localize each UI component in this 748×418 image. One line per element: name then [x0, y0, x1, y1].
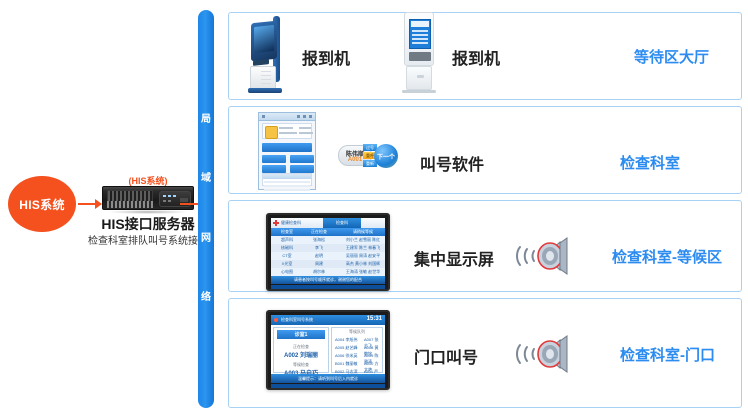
board4-current-value: A002 刘瑞丽 [274, 350, 328, 359]
central-display-screen-icon: 健康检查科 检查科 检查室 正在检查 请稍候等候 超声科 张海松 刘小兰 赵雪丽… [266, 213, 390, 291]
diagram-canvas: HIS系统 (HIS系统) HIS接口服务器 检查科室排队叫号系统接口 局 域 [0, 0, 748, 418]
row2-zone-label: 检查科室 [620, 152, 680, 173]
board4-queue-title: 等候队列 [332, 329, 382, 335]
next-patient-label: 下一个 [377, 152, 395, 161]
board3-footer: 请患者按叫号顺序就诊，谢谢您的配合 [271, 277, 385, 283]
his-system-label: HIS系统 [19, 196, 65, 213]
board3-tab: 检查科 [323, 220, 361, 226]
board3-title: 健康检查科 [281, 220, 301, 226]
server-title: HIS接口服务器 [78, 214, 218, 234]
queue-item: A005 赵艺峰 [335, 345, 357, 351]
checkin-kiosk-white-icon [400, 12, 438, 94]
table-row: 心电图 胡尔林 王海涛 张敏 赵世华 [271, 268, 385, 276]
row3-zone-label: 检查科室-等候区 [612, 246, 722, 267]
table-row: 核磁科 李飞 王建军 陈兰 林春飞 [271, 244, 385, 252]
table-row: 超声科 张海松 刘小兰 赵雪丽 陈红 [271, 236, 385, 244]
lan-char-1: 局 [201, 115, 211, 125]
medical-cross-icon [273, 220, 279, 226]
speaker-icon [512, 332, 576, 376]
board4-title: 检查科室叫号系统 [281, 317, 313, 323]
board4-footer: 温馨提示：请听到叫号后入内就诊 [271, 376, 385, 382]
table-row: X光室 周建 高杰 黄小林 刘国辉 [271, 260, 385, 268]
table-row: CT室 赵明 吴丽丽 周涛 赵安平 [271, 252, 385, 260]
row3-device-label: 集中显示屏 [414, 246, 494, 270]
queue-item: A006 徐米英 [335, 353, 357, 359]
call-next-widget[interactable]: 陈伟顺 A001 过号 重呼 重新 下一个 [338, 143, 398, 169]
row1-device-label-2: 报到机 [452, 45, 500, 69]
speaker-icon [512, 234, 576, 278]
door-display-screen-icon: 检查科室叫号系统 15:31 诊室1 正在检查 A002 刘瑞丽 等候检查 A0… [266, 310, 390, 390]
queue-item: B001 魏丽敏 [335, 361, 357, 367]
row4-zone-label: 检查科室-门口 [620, 344, 715, 365]
next-patient-button[interactable]: 下一个 [374, 144, 398, 168]
lan-char-3: 网 [201, 234, 211, 244]
row4-device-label: 门口叫号 [414, 344, 478, 368]
row1-device-label-1: 报到机 [302, 45, 350, 69]
board4-room: 诊室1 [277, 331, 325, 338]
board3-col-1: 检查室 [273, 229, 301, 235]
row2-device-label: 叫号软件 [420, 151, 484, 175]
queue-item: A004 李旭伟 [335, 337, 357, 343]
arrow-right-icon-his-to-server [78, 199, 102, 209]
his-system-node: HIS系统 [8, 176, 76, 232]
checkin-kiosk-blue-icon [246, 16, 286, 94]
row1-zone-label: 等待区大厅 [634, 46, 709, 67]
board3-col-2: 正在检查 [303, 229, 335, 235]
calling-software-window-icon [258, 112, 316, 190]
board4-time: 15:31 [367, 316, 382, 322]
lan-network-label: 局 域 网 络 [198, 10, 214, 408]
lan-char-2: 域 [201, 174, 211, 184]
lan-char-4: 络 [201, 293, 211, 303]
board3-col-3: 请稍候等候 [337, 229, 385, 235]
